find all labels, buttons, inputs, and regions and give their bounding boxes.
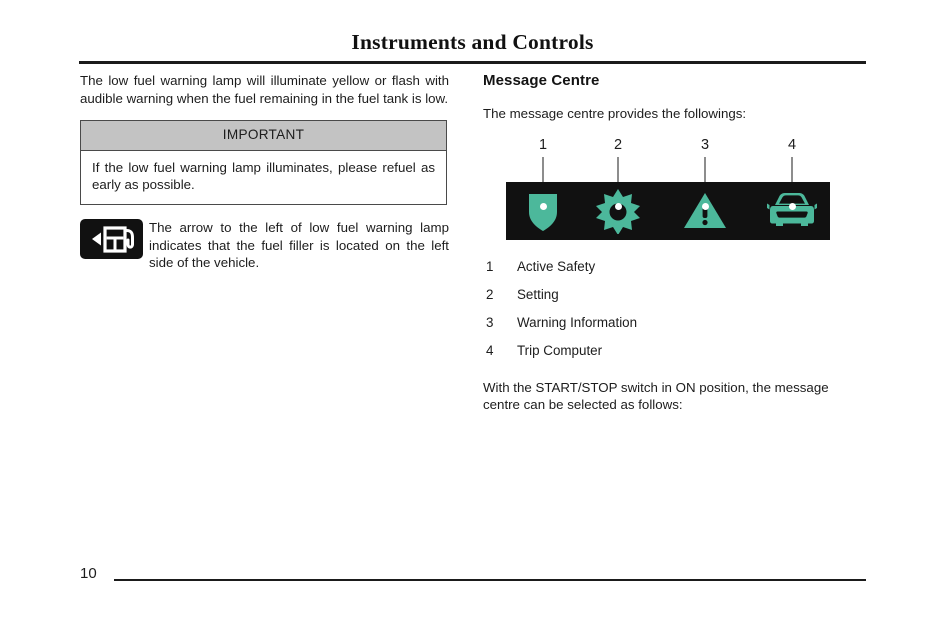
gear-icon[interactable] xyxy=(589,182,647,240)
message-centre-intro: The message centre provides the followin… xyxy=(483,105,855,123)
message-centre-legend-list: 1 Active Safety 2 Setting 3 Warning Info… xyxy=(483,259,855,359)
message-centre-icon-bar xyxy=(506,182,830,240)
list-item: 2 Setting xyxy=(483,287,855,303)
list-item-index: 2 xyxy=(486,287,500,303)
important-heading: IMPORTANT xyxy=(81,121,446,151)
intro-paragraph: The low fuel warning lamp will illuminat… xyxy=(80,72,449,107)
list-item-index: 1 xyxy=(486,259,500,275)
fuel-symbol-paragraph: The arrow to the left of low fuel warnin… xyxy=(80,219,449,272)
leader-dot-3 xyxy=(702,203,709,210)
section-heading-message-centre: Message Centre xyxy=(483,72,855,89)
important-callout-box: IMPORTANT If the low fuel warning lamp i… xyxy=(80,120,447,205)
leader-dot-1 xyxy=(540,203,547,210)
right-column: Message Centre The message centre provid… xyxy=(483,72,855,414)
page-number: 10 xyxy=(80,565,97,582)
document-page: Instruments and Controls The low fuel wa… xyxy=(0,0,945,621)
page-title: Instruments and Controls xyxy=(0,30,945,55)
header-divider xyxy=(79,61,866,64)
leader-dot-4 xyxy=(789,203,796,210)
footer-divider xyxy=(114,579,866,581)
left-column: The low fuel warning lamp will illuminat… xyxy=(80,72,449,272)
list-item-label: Trip Computer xyxy=(517,343,602,358)
shield-icon[interactable] xyxy=(514,182,572,240)
warning-triangle-icon[interactable] xyxy=(676,182,734,240)
list-item: 3 Warning Information xyxy=(483,315,855,331)
low-fuel-arrow-left-icon xyxy=(80,219,143,259)
callout-number-3: 3 xyxy=(695,137,715,153)
message-centre-figure: 1 2 3 4 xyxy=(483,137,855,245)
page-footer: 10 xyxy=(80,565,866,585)
list-item-label: Setting xyxy=(517,287,559,302)
list-item: 1 Active Safety xyxy=(483,259,855,275)
callout-number-2: 2 xyxy=(608,137,628,153)
callout-number-1: 1 xyxy=(533,137,553,153)
important-body-text: If the low fuel warning lamp illuminates… xyxy=(81,151,446,204)
callout-number-4: 4 xyxy=(782,137,802,153)
closing-paragraph: With the START/STOP switch in ON positio… xyxy=(483,379,855,414)
car-front-icon[interactable] xyxy=(763,182,821,240)
list-item-label: Active Safety xyxy=(517,259,595,274)
list-item-index: 4 xyxy=(486,343,500,359)
fuel-symbol-text: The arrow to the left of low fuel warnin… xyxy=(149,220,449,270)
list-item-index: 3 xyxy=(486,315,500,331)
list-item-label: Warning Information xyxy=(517,315,637,330)
leader-dot-2 xyxy=(615,203,622,210)
list-item: 4 Trip Computer xyxy=(483,343,855,359)
